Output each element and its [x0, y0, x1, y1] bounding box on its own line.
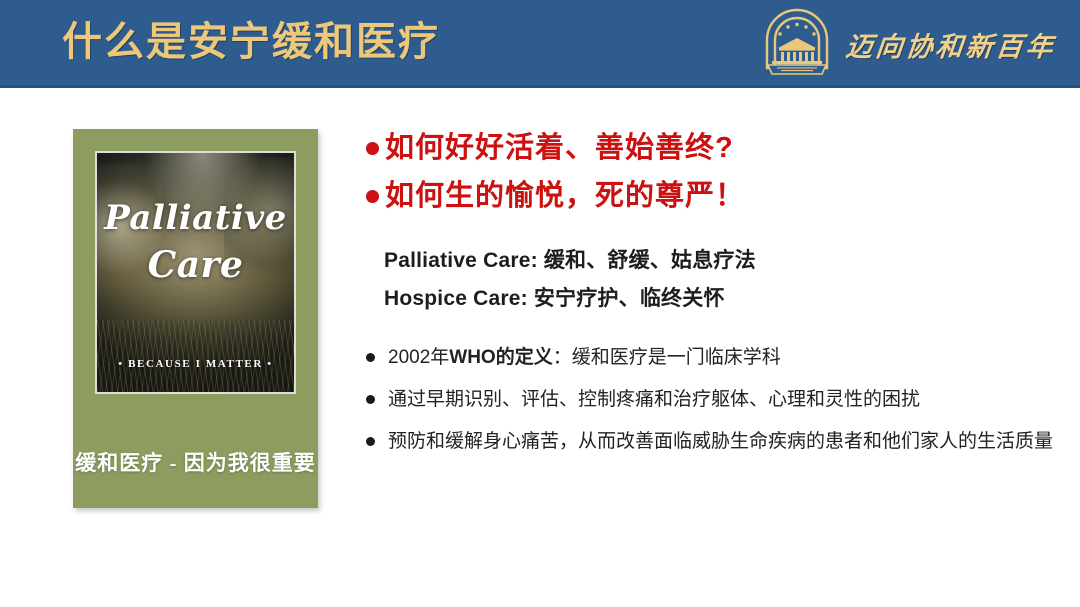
logo-lockup: 迈向协和新百年 — [758, 6, 1056, 82]
poster-photo-area: Palliative Care • BECAUSE I MATTER • — [73, 129, 318, 416]
poster-script-line2: Care — [97, 242, 294, 289]
list-item: 2002年WHO的定义：缓和医疗是一门临床学科 — [366, 342, 1056, 373]
term-line-palliative: Palliative Care: 缓和、舒缓、姑息疗法 — [384, 242, 1056, 280]
content-column: 如何好好活着、善始善终? 如何生的愉悦，死的尊严！ Palliative Car… — [366, 124, 1056, 468]
poster-script-line1: Palliative — [104, 198, 286, 238]
palliative-care-poster: Palliative Care • BECAUSE I MATTER • 缓和医… — [73, 129, 318, 508]
headline-item: 如何好好活着、善始善终? — [366, 124, 1056, 172]
red-bullet-icon — [366, 190, 379, 203]
list-item-text: 预防和缓解身心痛苦，从而改善面临威胁生命疾病的患者和他们家人的生活质量 — [388, 426, 1056, 457]
headline-list: 如何好好活着、善始善终? 如何生的愉悦，死的尊严！ — [366, 124, 1056, 220]
black-bullet-icon — [366, 353, 375, 362]
who-prefix: 2002年 — [388, 347, 449, 368]
page-title: 什么是安宁缓和医疗 — [62, 16, 440, 68]
list-item: 通过早期识别、评估、控制疼痛和治疗躯体、心理和灵性的困扰 — [366, 384, 1056, 415]
headline-text: 如何生的愉悦，死的尊严！ — [385, 172, 745, 220]
black-bullet-icon — [366, 437, 375, 446]
photo-grass — [97, 320, 294, 392]
terminology-block: Palliative Care: 缓和、舒缓、姑息疗法 Hospice Care… — [384, 242, 1056, 318]
who-bold: WHO的定义 — [449, 347, 552, 368]
list-item-text: 通过早期识别、评估、控制疼痛和治疗躯体、心理和灵性的困扰 — [388, 384, 1056, 415]
red-bullet-icon — [366, 142, 379, 155]
poster-caption-bar: 缓和医疗 - 因为我很重要 — [73, 416, 318, 508]
headline-item: 如何生的愉悦，死的尊严！ — [366, 172, 1056, 220]
poster-script-text: Palliative Care — [97, 195, 294, 289]
poster-tagline: • BECAUSE I MATTER • — [97, 358, 294, 370]
list-item-text: 2002年WHO的定义：缓和医疗是一门临床学科 — [388, 342, 1056, 373]
headline-text: 如何好好活着、善始善终? — [385, 124, 734, 172]
anniversary-slogan: 迈向协和新百年 — [844, 25, 1058, 64]
who-definition-list: 2002年WHO的定义：缓和医疗是一门临床学科 通过早期识别、评估、控制疼痛和治… — [366, 342, 1056, 457]
list-item: 预防和缓解身心痛苦，从而改善面临威胁生命疾病的患者和他们家人的生活质量 — [366, 426, 1056, 457]
header-banner: 什么是安宁缓和医疗 — [0, 0, 1080, 88]
who-suffix: ：缓和医疗是一门临床学科 — [553, 347, 781, 368]
pumch-emblem-icon — [758, 8, 836, 80]
term-line-hospice: Hospice Care: 安宁疗护、临终关怀 — [384, 280, 1056, 318]
black-bullet-icon — [366, 395, 375, 404]
poster-caption-text: 缓和医疗 - 因为我很重要 — [75, 447, 316, 477]
nature-photo: Palliative Care • BECAUSE I MATTER • — [95, 151, 296, 394]
